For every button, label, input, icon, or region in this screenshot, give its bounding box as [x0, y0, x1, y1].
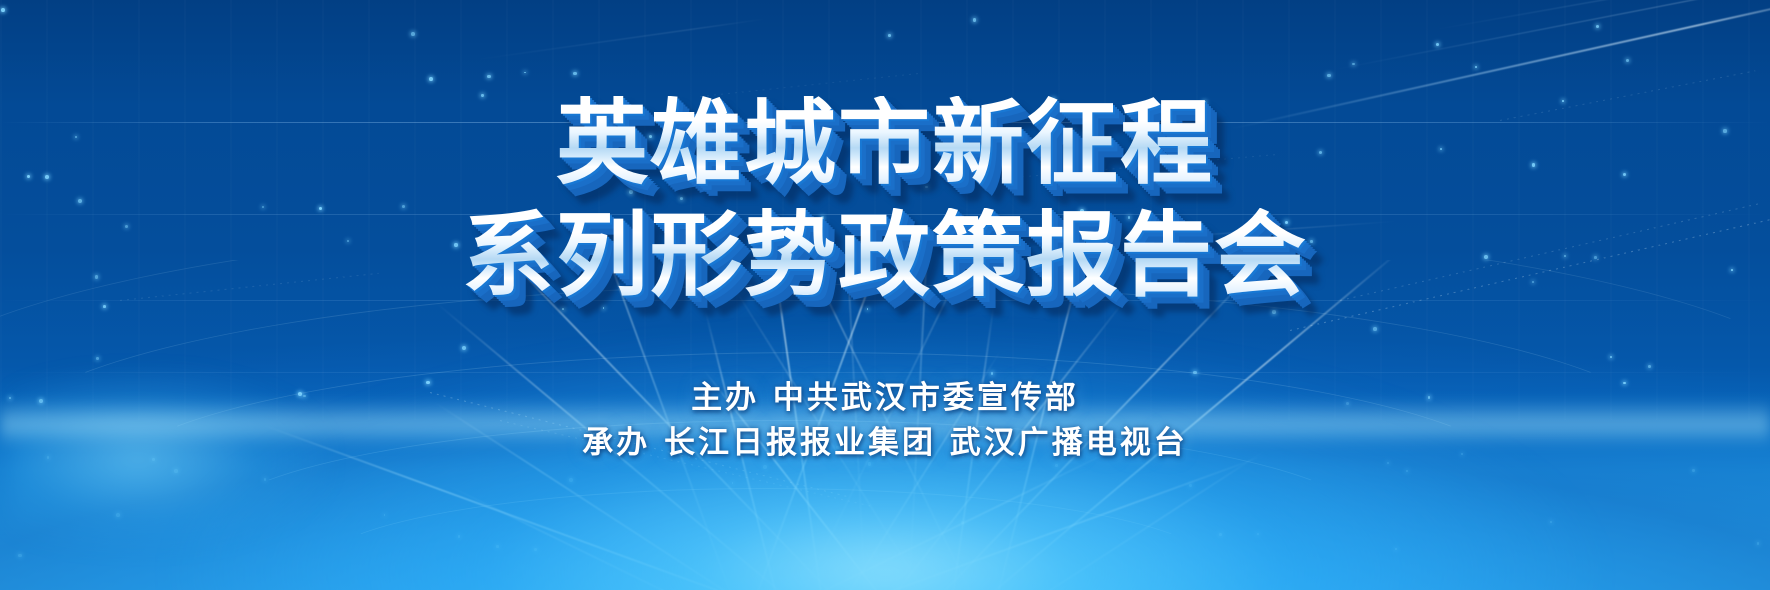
- sparkle-dot: [103, 305, 106, 308]
- sparkle-dot: [1648, 365, 1651, 368]
- sparkle-dot: [462, 346, 466, 350]
- sparkle-dot: [96, 357, 99, 360]
- organizer-line-coorganizer: 承办 长江日报报业集团 武汉广播电视台: [0, 421, 1770, 466]
- sparkle-dot: [888, 34, 891, 37]
- sparkle-dot: [429, 77, 433, 81]
- background-horizon-line-4: [0, 372, 1770, 373]
- event-banner: 英雄城市新征程 系列形势政策报告会 主办 中共武汉市委宣传部 承办 长江日报报业…: [0, 0, 1770, 590]
- sparkle-dot: [487, 75, 490, 78]
- title-line-1: 英雄城市新征程: [0, 96, 1770, 192]
- sparkle-dot: [1373, 327, 1377, 331]
- sparkle-dot: [1272, 310, 1275, 313]
- sparkle-dot: [1352, 63, 1355, 66]
- organizer-block: 主办 中共武汉市委宣传部 承办 长江日报报业集团 武汉广播电视台: [0, 376, 1770, 466]
- sparkle-dot: [1610, 356, 1612, 358]
- sparkle-dot: [1, 8, 5, 12]
- banner-title: 英雄城市新征程 系列形势政策报告会: [0, 96, 1770, 303]
- title-line-2: 系列形势政策报告会: [0, 208, 1770, 304]
- sparkle-dot: [411, 32, 415, 36]
- sparkle-dot: [991, 372, 994, 375]
- sparkle-dot: [1193, 371, 1196, 374]
- sparkle-dot: [1626, 59, 1629, 62]
- organizer-line-host: 主办 中共武汉市委宣传部: [0, 376, 1770, 421]
